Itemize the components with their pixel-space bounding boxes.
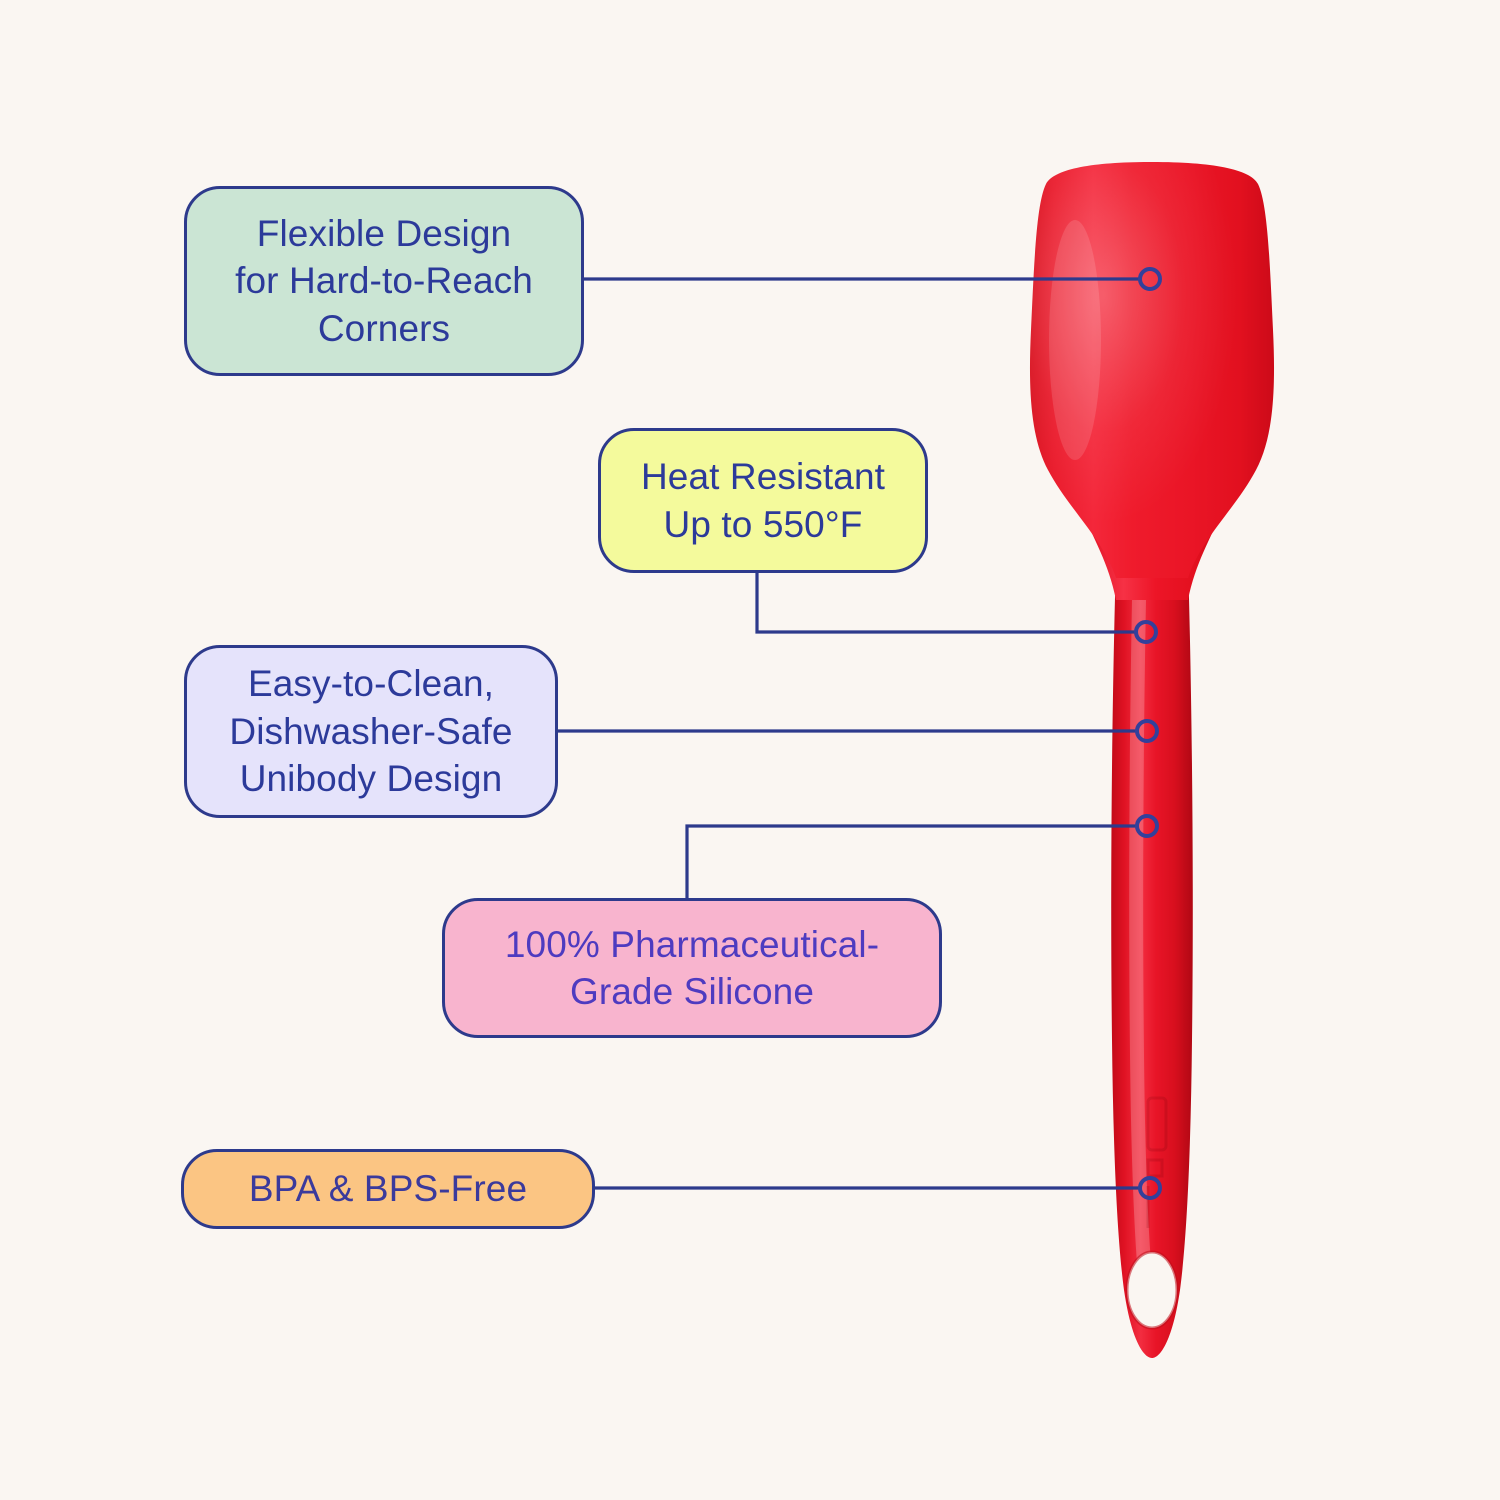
- callout-heat-resistant-label: Heat Resistant Up to 550°F: [627, 453, 899, 548]
- callout-heat-resistant: Heat Resistant Up to 550°F: [598, 428, 928, 573]
- connector-silicone: [687, 826, 1139, 898]
- callout-bpa-bps-free: BPA & BPS-Free: [181, 1149, 595, 1229]
- callout-bpa-bps-free-label: BPA & BPS-Free: [235, 1165, 541, 1212]
- callout-pharmaceutical-grade-silicone: 100% Pharmaceutical- Grade Silicone: [442, 898, 942, 1038]
- callout-flexible-design: Flexible Design for Hard-to-Reach Corner…: [184, 186, 584, 376]
- product-infographic: Flexible Design for Hard-to-Reach Corner…: [0, 0, 1500, 1500]
- callout-pharmaceutical-grade-silicone-label: 100% Pharmaceutical- Grade Silicone: [491, 921, 893, 1016]
- callout-flexible-design-label: Flexible Design for Hard-to-Reach Corner…: [221, 210, 547, 352]
- spatula-handle: [1111, 560, 1193, 1358]
- callout-easy-to-clean-label: Easy-to-Clean, Dishwasher-Safe Unibody D…: [215, 660, 526, 802]
- connector-heat: [757, 573, 1138, 632]
- head-specular: [1049, 220, 1101, 460]
- callout-easy-to-clean: Easy-to-Clean, Dishwasher-Safe Unibody D…: [184, 645, 558, 818]
